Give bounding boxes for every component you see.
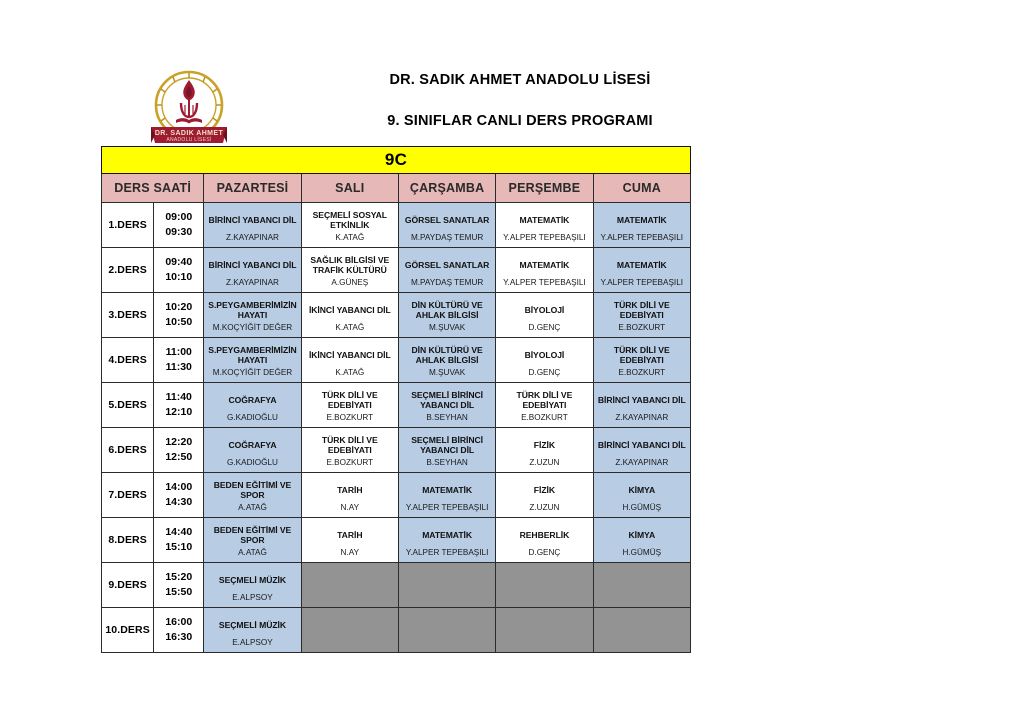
- lesson-cell-content: REHBERLİKD.GENÇ: [496, 518, 592, 562]
- lesson-teacher: A.ATAĞ: [206, 548, 298, 558]
- lesson-teacher: Y.ALPER TEPEBAŞILI: [498, 233, 590, 243]
- lesson-end-time: 15:50: [154, 585, 203, 600]
- lesson-number-label: 6.DERS: [102, 444, 153, 456]
- lesson-cell[interactable]: SEÇMELİ MÜZİKE.ALPSOY: [204, 608, 301, 653]
- lesson-cell[interactable]: COĞRAFYAG.KADIOĞLU: [204, 428, 301, 473]
- class-name-label: 9C: [385, 150, 407, 169]
- lesson-teacher: B.SEYHAN: [401, 458, 493, 468]
- lesson-teacher: Z.KAYAPINAR: [596, 458, 688, 468]
- lesson-subject: MATEMATİK: [401, 522, 493, 548]
- lesson-time-range: 11:0011:30: [154, 341, 203, 379]
- lesson-subject: BİYOLOJİ: [498, 297, 590, 323]
- lesson-subject: SEÇMELİ MÜZİK: [206, 567, 298, 593]
- lesson-number-label: 2.DERS: [102, 264, 153, 276]
- lesson-number-label: 7.DERS: [102, 489, 153, 501]
- lesson-cell-content: SEÇMELİ BİRİNCİ YABANCI DİLB.SEYHAN: [399, 428, 495, 472]
- lesson-teacher: E.ALPSOY: [206, 593, 298, 603]
- schedule-table-wrapper: 9CDERS SAATİPAZARTESİSALIÇARŞAMBAPERŞEMB…: [101, 146, 691, 653]
- schedule-row: 5.DERS11:4012:10COĞRAFYAG.KADIOĞLUTÜRK D…: [102, 383, 691, 428]
- lesson-cell[interactable]: BEDEN EĞİTİMİ VE SPORA.ATAĞ: [204, 473, 301, 518]
- lesson-cell[interactable]: GÖRSEL SANATLARM.PAYDAŞ TEMUR: [398, 248, 495, 293]
- column-header-label: DERS SAATİ: [102, 174, 203, 202]
- lesson-number-label: 9.DERS: [102, 579, 153, 591]
- lesson-subject: S.PEYGAMBERİMİZİN HAYATI: [206, 297, 298, 323]
- lesson-teacher: Z.UZUN: [498, 503, 590, 513]
- lesson-cell[interactable]: TÜRK DİLİ VE EDEBİYATIE.BOZKURT: [301, 428, 398, 473]
- empty-slot-cell: [301, 563, 398, 608]
- lesson-teacher: Y.ALPER TEPEBAŞILI: [401, 503, 493, 513]
- lesson-end-time: 12:10: [154, 405, 203, 420]
- lesson-cell[interactable]: DİN KÜLTÜRÜ VE AHLAK BİLGİSİM.ŞUVAK: [398, 338, 495, 383]
- lesson-subject: TARİH: [304, 477, 396, 503]
- lesson-cell-content: FİZİKZ.UZUN: [496, 428, 592, 472]
- lesson-end-time: 15:10: [154, 540, 203, 555]
- empty-slot-cell: [593, 563, 690, 608]
- lesson-cell-content: SEÇMELİ MÜZİKE.ALPSOY: [204, 608, 300, 652]
- lesson-time-cell: 15:2015:50: [154, 563, 204, 608]
- lesson-teacher: H.GÜMÜŞ: [596, 548, 688, 558]
- lesson-subject: S.PEYGAMBERİMİZİN HAYATI: [206, 342, 298, 368]
- lesson-cell-content: BİYOLOJİD.GENÇ: [496, 293, 592, 337]
- schedule-page: DR. SADIK AHMET ANADOLU LİSESİ DR. SADIK…: [0, 0, 1024, 724]
- lesson-subject: BEDEN EĞİTİMİ VE SPOR: [206, 477, 298, 503]
- lesson-number-label: 1.DERS: [102, 219, 153, 231]
- lesson-teacher: M.ŞUVAK: [401, 368, 493, 378]
- lesson-cell-content: TÜRK DİLİ VE EDEBİYATIE.BOZKURT: [302, 428, 398, 472]
- lesson-teacher: K.ATAĞ: [304, 233, 396, 243]
- lesson-cell[interactable]: SEÇMELİ BİRİNCİ YABANCI DİLB.SEYHAN: [398, 428, 495, 473]
- lesson-cell[interactable]: GÖRSEL SANATLARM.PAYDAŞ TEMUR: [398, 203, 495, 248]
- lesson-number-label: 4.DERS: [102, 354, 153, 366]
- lesson-number-label: 3.DERS: [102, 309, 153, 321]
- lesson-cell-content: MATEMATİKY.ALPER TEPEBAŞILI: [496, 248, 592, 292]
- lesson-cell[interactable]: REHBERLİKD.GENÇ: [496, 518, 593, 563]
- lesson-teacher: D.GENÇ: [498, 368, 590, 378]
- lesson-cell-content: TÜRK DİLİ VE EDEBİYATIE.BOZKURT: [302, 383, 398, 427]
- column-header-label: PERŞEMBE: [496, 174, 592, 202]
- lesson-teacher: D.GENÇ: [498, 548, 590, 558]
- lesson-cell-content: DİN KÜLTÜRÜ VE AHLAK BİLGİSİM.ŞUVAK: [399, 338, 495, 382]
- lesson-time-range: 09:0009:30: [154, 206, 203, 244]
- lesson-start-time: 10:20: [154, 300, 203, 315]
- lesson-subject: GÖRSEL SANATLAR: [401, 207, 493, 233]
- lesson-teacher: M.ŞUVAK: [401, 323, 493, 333]
- lesson-cell[interactable]: COĞRAFYAG.KADIOĞLU: [204, 383, 301, 428]
- lesson-subject: GÖRSEL SANATLAR: [401, 252, 493, 278]
- lesson-end-time: 12:50: [154, 450, 203, 465]
- empty-slot-cell: [496, 608, 593, 653]
- lesson-subject: BİRİNCİ YABANCI DİL: [596, 432, 688, 458]
- column-header-pazartesi-: PAZARTESİ: [204, 174, 301, 203]
- lesson-cell-content: MATEMATİKY.ALPER TEPEBAŞILI: [399, 473, 495, 517]
- lesson-cell-content: KİMYAH.GÜMÜŞ: [594, 518, 690, 562]
- lesson-cell-content: FİZİKZ.UZUN: [496, 473, 592, 517]
- lesson-cell-content: GÖRSEL SANATLARM.PAYDAŞ TEMUR: [399, 248, 495, 292]
- lesson-subject: MATEMATİK: [596, 252, 688, 278]
- lesson-cell[interactable]: KİMYAH.GÜMÜŞ: [593, 473, 690, 518]
- schedule-table: 9CDERS SAATİPAZARTESİSALIÇARŞAMBAPERŞEMB…: [101, 146, 691, 653]
- lesson-time-cell: 14:0014:30: [154, 473, 204, 518]
- lesson-start-time: 14:40: [154, 525, 203, 540]
- lesson-teacher: Y.ALPER TEPEBAŞILI: [596, 233, 688, 243]
- lesson-start-time: 11:40: [154, 390, 203, 405]
- schedule-row: 10.DERS16:0016:30SEÇMELİ MÜZİKE.ALPSOY: [102, 608, 691, 653]
- lesson-end-time: 10:10: [154, 270, 203, 285]
- lesson-teacher: M.PAYDAŞ TEMUR: [401, 278, 493, 288]
- lesson-cell-content: TÜRK DİLİ VE EDEBİYATIE.BOZKURT: [594, 293, 690, 337]
- lesson-cell[interactable]: S.PEYGAMBERİMİZİN HAYATIM.KOÇYİĞİT DEĞER: [204, 338, 301, 383]
- lesson-number-cell: 2.DERS: [102, 248, 154, 293]
- lesson-teacher: E.ALPSOY: [206, 638, 298, 648]
- document-header: DR. SADIK AHMET ANADOLU LİSESİ DR. SADIK…: [0, 62, 1024, 144]
- lesson-subject: MATEMATİK: [596, 207, 688, 233]
- lesson-teacher: M.KOÇYİĞİT DEĞER: [206, 323, 298, 333]
- lesson-subject: TÜRK DİLİ VE EDEBİYATI: [596, 297, 688, 323]
- empty-slot-cell: [301, 608, 398, 653]
- lesson-teacher: Y.ALPER TEPEBAŞILI: [401, 548, 493, 558]
- lesson-start-time: 11:00: [154, 345, 203, 360]
- lesson-cell-content: COĞRAFYAG.KADIOĞLU: [204, 383, 300, 427]
- lesson-cell[interactable]: MATEMATİKY.ALPER TEPEBAŞILI: [496, 248, 593, 293]
- lesson-start-time: 09:00: [154, 210, 203, 225]
- lesson-subject: REHBERLİK: [498, 522, 590, 548]
- lesson-number-cell: 1.DERS: [102, 203, 154, 248]
- schedule-row: 1.DERS09:0009:30BİRİNCİ YABANCI DİLZ.KAY…: [102, 203, 691, 248]
- lesson-time-range: 10:2010:50: [154, 296, 203, 334]
- lesson-cell[interactable]: İKİNCİ YABANCI DİLK.ATAĞ: [301, 338, 398, 383]
- schedule-row: 4.DERS11:0011:30S.PEYGAMBERİMİZİN HAYATI…: [102, 338, 691, 383]
- lesson-cell-content: MATEMATİKY.ALPER TEPEBAŞILI: [399, 518, 495, 562]
- svg-text:ANADOLU LİSESİ: ANADOLU LİSESİ: [166, 136, 211, 143]
- schedule-row: 2.DERS09:4010:10BİRİNCİ YABANCI DİLZ.KAY…: [102, 248, 691, 293]
- lesson-cell[interactable]: KİMYAH.GÜMÜŞ: [593, 518, 690, 563]
- lesson-cell-content: SAĞLIK BİLGİSİ VE TRAFİK KÜLTÜRÜA.GÜNEŞ: [302, 248, 398, 292]
- lesson-cell-content: TÜRK DİLİ VE EDEBİYATIE.BOZKURT: [594, 338, 690, 382]
- lesson-subject: TÜRK DİLİ VE EDEBİYATI: [596, 342, 688, 368]
- lesson-cell[interactable]: SEÇMELİ BİRİNCİ YABANCI DİLB.SEYHAN: [398, 383, 495, 428]
- schedule-row: 6.DERS12:2012:50COĞRAFYAG.KADIOĞLUTÜRK D…: [102, 428, 691, 473]
- lesson-subject: MATEMATİK: [498, 252, 590, 278]
- lesson-teacher: H.GÜMÜŞ: [596, 503, 688, 513]
- lesson-subject: SEÇMELİ BİRİNCİ YABANCI DİL: [401, 432, 493, 458]
- lesson-teacher: G.KADIOĞLU: [206, 413, 298, 423]
- lesson-teacher: Z.KAYAPINAR: [206, 278, 298, 288]
- lesson-cell[interactable]: DİN KÜLTÜRÜ VE AHLAK BİLGİSİM.ŞUVAK: [398, 293, 495, 338]
- lesson-subject: TÜRK DİLİ VE EDEBİYATI: [304, 432, 396, 458]
- schedule-row: 9.DERS15:2015:50SEÇMELİ MÜZİKE.ALPSOY: [102, 563, 691, 608]
- lesson-number-cell: 6.DERS: [102, 428, 154, 473]
- column-header-label: CUMA: [594, 174, 690, 202]
- lesson-time-range: 16:0016:30: [154, 611, 203, 649]
- lesson-subject: MATEMATİK: [401, 477, 493, 503]
- program-subtitle: 9. SINIFLAR CANLI DERS PROGRAMI: [250, 113, 790, 129]
- lesson-cell[interactable]: MATEMATİKY.ALPER TEPEBAŞILI: [398, 473, 495, 518]
- lesson-teacher: N.AY: [304, 548, 396, 558]
- lesson-cell[interactable]: BİYOLOJİD.GENÇ: [496, 293, 593, 338]
- lesson-subject: BİRİNCİ YABANCI DİL: [596, 387, 688, 413]
- lesson-subject: MATEMATİK: [498, 207, 590, 233]
- lesson-teacher: E.BOZKURT: [596, 368, 688, 378]
- lesson-cell-content: MATEMATİKY.ALPER TEPEBAŞILI: [496, 203, 592, 247]
- lesson-time-cell: 09:4010:10: [154, 248, 204, 293]
- lesson-subject: BEDEN EĞİTİMİ VE SPOR: [206, 522, 298, 548]
- lesson-cell[interactable]: BİRİNCİ YABANCI DİLZ.KAYAPINAR: [593, 383, 690, 428]
- lesson-subject: SEÇMELİ BİRİNCİ YABANCI DİL: [401, 387, 493, 413]
- column-header-cuma: CUMA: [593, 174, 690, 203]
- lesson-cell-content: İKİNCİ YABANCI DİLK.ATAĞ: [302, 293, 398, 337]
- lesson-time-range: 15:2015:50: [154, 566, 203, 604]
- column-header-sali: SALI: [301, 174, 398, 203]
- lesson-end-time: 16:30: [154, 630, 203, 645]
- lesson-cell-content: BEDEN EĞİTİMİ VE SPORA.ATAĞ: [204, 473, 300, 517]
- lesson-cell-content: İKİNCİ YABANCI DİLK.ATAĞ: [302, 338, 398, 382]
- lesson-cell-content: BİRİNCİ YABANCI DİLZ.KAYAPINAR: [594, 383, 690, 427]
- lesson-end-time: 11:30: [154, 360, 203, 375]
- empty-slot-cell: [398, 563, 495, 608]
- lesson-subject: DİN KÜLTÜRÜ VE AHLAK BİLGİSİ: [401, 342, 493, 368]
- lesson-subject: DİN KÜLTÜRÜ VE AHLAK BİLGİSİ: [401, 297, 493, 323]
- lesson-subject: TÜRK DİLİ VE EDEBİYATI: [304, 387, 396, 413]
- lesson-cell-content: BİRİNCİ YABANCI DİLZ.KAYAPINAR: [204, 248, 300, 292]
- empty-slot-cell: [496, 563, 593, 608]
- lesson-cell[interactable]: SAĞLIK BİLGİSİ VE TRAFİK KÜLTÜRÜA.GÜNEŞ: [301, 248, 398, 293]
- lesson-number-cell: 7.DERS: [102, 473, 154, 518]
- class-banner-row: 9C: [102, 147, 691, 174]
- lesson-cell-content: BEDEN EĞİTİMİ VE SPORA.ATAĞ: [204, 518, 300, 562]
- lesson-cell-content: COĞRAFYAG.KADIOĞLU: [204, 428, 300, 472]
- lesson-cell-content: BİYOLOJİD.GENÇ: [496, 338, 592, 382]
- lesson-cell[interactable]: TARİHN.AY: [301, 518, 398, 563]
- lesson-teacher: A.GÜNEŞ: [304, 278, 396, 288]
- lesson-cell-content: TÜRK DİLİ VE EDEBİYATIE.BOZKURT: [496, 383, 592, 427]
- lesson-subject: BİRİNCİ YABANCI DİL: [206, 252, 298, 278]
- lesson-teacher: A.ATAĞ: [206, 503, 298, 513]
- lesson-subject: COĞRAFYA: [206, 432, 298, 458]
- lesson-cell-content: S.PEYGAMBERİMİZİN HAYATIM.KOÇYİĞİT DEĞER: [204, 338, 300, 382]
- schedule-row: 8.DERS14:4015:10BEDEN EĞİTİMİ VE SPORA.A…: [102, 518, 691, 563]
- column-header-label: SALI: [302, 174, 398, 202]
- lesson-subject: İKİNCİ YABANCI DİL: [304, 297, 396, 323]
- lesson-time-cell: 11:4012:10: [154, 383, 204, 428]
- lesson-cell[interactable]: MATEMATİKY.ALPER TEPEBAŞILI: [593, 248, 690, 293]
- lesson-subject: KİMYA: [596, 522, 688, 548]
- lesson-cell-content: MATEMATİKY.ALPER TEPEBAŞILI: [594, 248, 690, 292]
- lesson-teacher: E.BOZKURT: [304, 458, 396, 468]
- column-header-label: ÇARŞAMBA: [399, 174, 495, 202]
- lesson-time-cell: 14:4015:10: [154, 518, 204, 563]
- lesson-cell[interactable]: SEÇMELİ SOSYAL ETKİNLİKK.ATAĞ: [301, 203, 398, 248]
- lesson-number-cell: 4.DERS: [102, 338, 154, 383]
- lesson-teacher: M.KOÇYİĞİT DEĞER: [206, 368, 298, 378]
- lesson-teacher: B.SEYHAN: [401, 413, 493, 423]
- lesson-cell[interactable]: BİRİNCİ YABANCI DİLZ.KAYAPINAR: [204, 203, 301, 248]
- schedule-row: 7.DERS14:0014:30BEDEN EĞİTİMİ VE SPORA.A…: [102, 473, 691, 518]
- lesson-subject: FİZİK: [498, 432, 590, 458]
- lesson-subject: SAĞLIK BİLGİSİ VE TRAFİK KÜLTÜRÜ: [304, 252, 396, 278]
- lesson-teacher: N.AY: [304, 503, 396, 513]
- lesson-teacher: Y.ALPER TEPEBAŞILI: [498, 278, 590, 288]
- lesson-teacher: G.KADIOĞLU: [206, 458, 298, 468]
- lesson-time-cell: 09:0009:30: [154, 203, 204, 248]
- lesson-cell[interactable]: TARİHN.AY: [301, 473, 398, 518]
- lesson-teacher: K.ATAĞ: [304, 323, 396, 333]
- lesson-start-time: 14:00: [154, 480, 203, 495]
- lesson-cell-content: SEÇMELİ MÜZİKE.ALPSOY: [204, 563, 300, 607]
- lesson-teacher: Z.KAYAPINAR: [206, 233, 298, 243]
- lesson-cell-content: SEÇMELİ SOSYAL ETKİNLİKK.ATAĞ: [302, 203, 398, 247]
- lesson-cell[interactable]: MATEMATİKY.ALPER TEPEBAŞILI: [398, 518, 495, 563]
- lesson-time-cell: 12:2012:50: [154, 428, 204, 473]
- lesson-start-time: 16:00: [154, 615, 203, 630]
- lesson-cell[interactable]: TÜRK DİLİ VE EDEBİYATIE.BOZKURT: [593, 293, 690, 338]
- lesson-cell-content: DİN KÜLTÜRÜ VE AHLAK BİLGİSİM.ŞUVAK: [399, 293, 495, 337]
- lesson-cell-content: TARİHN.AY: [302, 518, 398, 562]
- lesson-end-time: 10:50: [154, 315, 203, 330]
- lesson-cell[interactable]: TÜRK DİLİ VE EDEBİYATIE.BOZKURT: [301, 383, 398, 428]
- lesson-subject: BİYOLOJİ: [498, 342, 590, 368]
- lesson-start-time: 12:20: [154, 435, 203, 450]
- svg-text:DR. SADIK AHMET: DR. SADIK AHMET: [155, 130, 224, 137]
- lesson-number-cell: 10.DERS: [102, 608, 154, 653]
- school-crest-logo: DR. SADIK AHMET ANADOLU LİSESİ: [143, 65, 235, 153]
- lesson-cell[interactable]: FİZİKZ.UZUN: [496, 473, 593, 518]
- lesson-cell[interactable]: BEDEN EĞİTİMİ VE SPORA.ATAĞ: [204, 518, 301, 563]
- column-header-label: PAZARTESİ: [204, 174, 300, 202]
- lesson-start-time: 09:40: [154, 255, 203, 270]
- lesson-subject: KİMYA: [596, 477, 688, 503]
- lesson-subject: FİZİK: [498, 477, 590, 503]
- empty-slot-cell: [398, 608, 495, 653]
- lesson-teacher: E.BOZKURT: [596, 323, 688, 333]
- lesson-time-cell: 16:0016:30: [154, 608, 204, 653]
- lesson-cell[interactable]: İKİNCİ YABANCI DİLK.ATAĞ: [301, 293, 398, 338]
- lesson-cell[interactable]: SEÇMELİ MÜZİKE.ALPSOY: [204, 563, 301, 608]
- class-banner-cell: 9C: [102, 147, 691, 174]
- lesson-time-cell: 10:2010:50: [154, 293, 204, 338]
- lesson-cell-content: S.PEYGAMBERİMİZİN HAYATIM.KOÇYİĞİT DEĞER: [204, 293, 300, 337]
- lesson-cell-content: TARİHN.AY: [302, 473, 398, 517]
- school-name: DR. SADIK AHMET ANADOLU LİSESİ: [250, 72, 790, 88]
- schedule-row: 3.DERS10:2010:50S.PEYGAMBERİMİZİN HAYATI…: [102, 293, 691, 338]
- lesson-cell-content: BİRİNCİ YABANCI DİLZ.KAYAPINAR: [204, 203, 300, 247]
- lesson-cell[interactable]: BİRİNCİ YABANCI DİLZ.KAYAPINAR: [593, 428, 690, 473]
- lesson-subject: COĞRAFYA: [206, 387, 298, 413]
- lesson-number-label: 8.DERS: [102, 534, 153, 546]
- day-header-row: DERS SAATİPAZARTESİSALIÇARŞAMBAPERŞEMBEC…: [102, 174, 691, 203]
- lesson-cell[interactable]: BİYOLOJİD.GENÇ: [496, 338, 593, 383]
- lesson-number-cell: 9.DERS: [102, 563, 154, 608]
- lesson-teacher: K.ATAĞ: [304, 368, 396, 378]
- lesson-teacher: E.BOZKURT: [498, 413, 590, 423]
- lesson-teacher: E.BOZKURT: [304, 413, 396, 423]
- lesson-start-time: 15:20: [154, 570, 203, 585]
- lesson-time-range: 14:4015:10: [154, 521, 203, 559]
- lesson-end-time: 09:30: [154, 225, 203, 240]
- empty-slot-cell: [593, 608, 690, 653]
- lesson-cell-content: MATEMATİKY.ALPER TEPEBAŞILI: [594, 203, 690, 247]
- lesson-teacher: D.GENÇ: [498, 323, 590, 333]
- lesson-subject: SEÇMELİ SOSYAL ETKİNLİK: [304, 207, 396, 233]
- lesson-number-label: 10.DERS: [102, 624, 153, 636]
- lesson-teacher: Z.KAYAPINAR: [596, 413, 688, 423]
- lesson-subject: TARİH: [304, 522, 396, 548]
- lesson-cell[interactable]: S.PEYGAMBERİMİZİN HAYATIM.KOÇYİĞİT DEĞER: [204, 293, 301, 338]
- lesson-cell-content: GÖRSEL SANATLARM.PAYDAŞ TEMUR: [399, 203, 495, 247]
- column-header-ders-saati-: DERS SAATİ: [102, 174, 204, 203]
- lesson-subject: İKİNCİ YABANCI DİL: [304, 342, 396, 368]
- lesson-cell-content: SEÇMELİ BİRİNCİ YABANCI DİLB.SEYHAN: [399, 383, 495, 427]
- lesson-teacher: Y.ALPER TEPEBAŞILI: [596, 278, 688, 288]
- lesson-subject: BİRİNCİ YABANCI DİL: [206, 207, 298, 233]
- lesson-teacher: Z.UZUN: [498, 458, 590, 468]
- lesson-subject: SEÇMELİ MÜZİK: [206, 612, 298, 638]
- lesson-number-label: 5.DERS: [102, 399, 153, 411]
- lesson-time-range: 12:2012:50: [154, 431, 203, 469]
- lesson-cell[interactable]: FİZİKZ.UZUN: [496, 428, 593, 473]
- lesson-cell-content: BİRİNCİ YABANCI DİLZ.KAYAPINAR: [594, 428, 690, 472]
- lesson-cell[interactable]: MATEMATİKY.ALPER TEPEBAŞILI: [496, 203, 593, 248]
- lesson-time-range: 11:4012:10: [154, 386, 203, 424]
- lesson-cell[interactable]: BİRİNCİ YABANCI DİLZ.KAYAPINAR: [204, 248, 301, 293]
- title-block: DR. SADIK AHMET ANADOLU LİSESİ 9. SINIFL…: [250, 72, 790, 129]
- lesson-end-time: 14:30: [154, 495, 203, 510]
- lesson-cell[interactable]: TÜRK DİLİ VE EDEBİYATIE.BOZKURT: [593, 338, 690, 383]
- lesson-number-cell: 8.DERS: [102, 518, 154, 563]
- lesson-cell[interactable]: MATEMATİKY.ALPER TEPEBAŞILI: [593, 203, 690, 248]
- lesson-time-range: 09:4010:10: [154, 251, 203, 289]
- lesson-time-cell: 11:0011:30: [154, 338, 204, 383]
- column-header-perşembe: PERŞEMBE: [496, 174, 593, 203]
- lesson-cell-content: KİMYAH.GÜMÜŞ: [594, 473, 690, 517]
- lesson-number-cell: 3.DERS: [102, 293, 154, 338]
- lesson-time-range: 14:0014:30: [154, 476, 203, 514]
- column-header-çarşamba: ÇARŞAMBA: [398, 174, 495, 203]
- lesson-teacher: M.PAYDAŞ TEMUR: [401, 233, 493, 243]
- lesson-subject: TÜRK DİLİ VE EDEBİYATI: [498, 387, 590, 413]
- lesson-number-cell: 5.DERS: [102, 383, 154, 428]
- lesson-cell[interactable]: TÜRK DİLİ VE EDEBİYATIE.BOZKURT: [496, 383, 593, 428]
